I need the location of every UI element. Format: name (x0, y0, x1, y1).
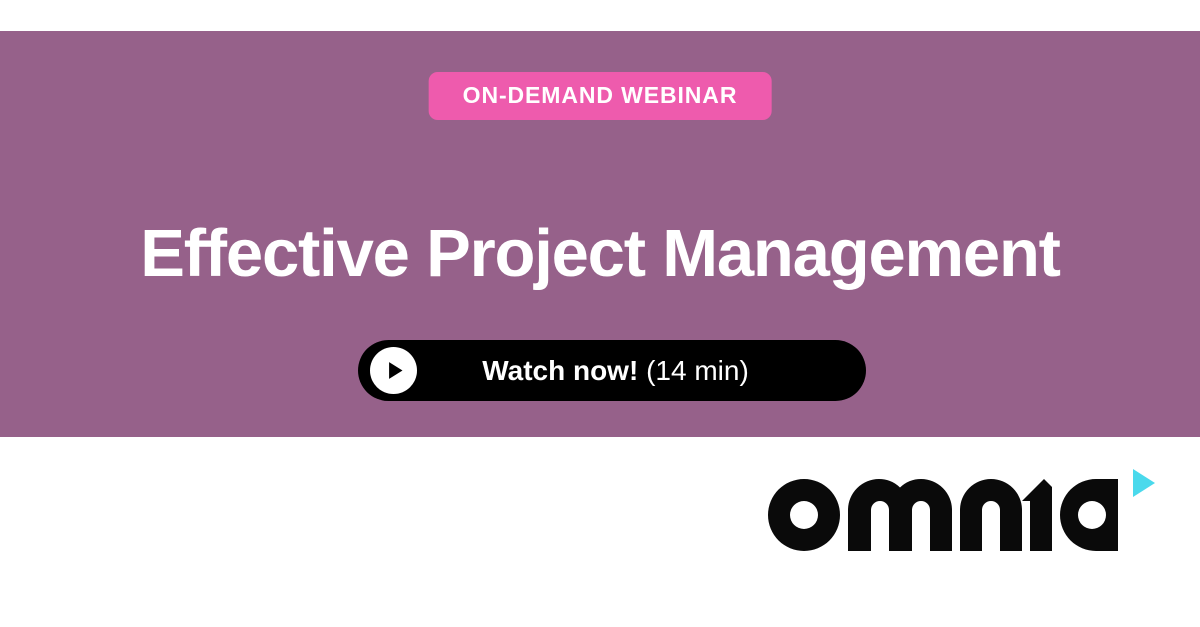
watch-now-button-label: Watch now! (14 min) (417, 357, 866, 385)
watch-now-button[interactable]: Watch now! (14 min) (358, 340, 866, 401)
promo-banner: ON-DEMAND WEBINAR Effective Project Mana… (0, 0, 1200, 627)
footer-band (0, 437, 1200, 627)
watch-now-label-strong: Watch now! (482, 355, 638, 386)
webinar-type-badge-label: ON-DEMAND WEBINAR (463, 84, 738, 107)
play-icon[interactable] (370, 347, 417, 394)
watch-now-label-duration: (14 min) (638, 355, 748, 386)
omnia-logo[interactable] (760, 461, 1158, 571)
logo-accent-play-triangle-icon (1130, 465, 1158, 505)
page-title: Effective Project Management (0, 218, 1200, 290)
webinar-type-badge: ON-DEMAND WEBINAR (429, 72, 772, 120)
hero-band: ON-DEMAND WEBINAR Effective Project Mana… (0, 31, 1200, 437)
omnia-wordmark-icon[interactable] (760, 461, 1130, 571)
